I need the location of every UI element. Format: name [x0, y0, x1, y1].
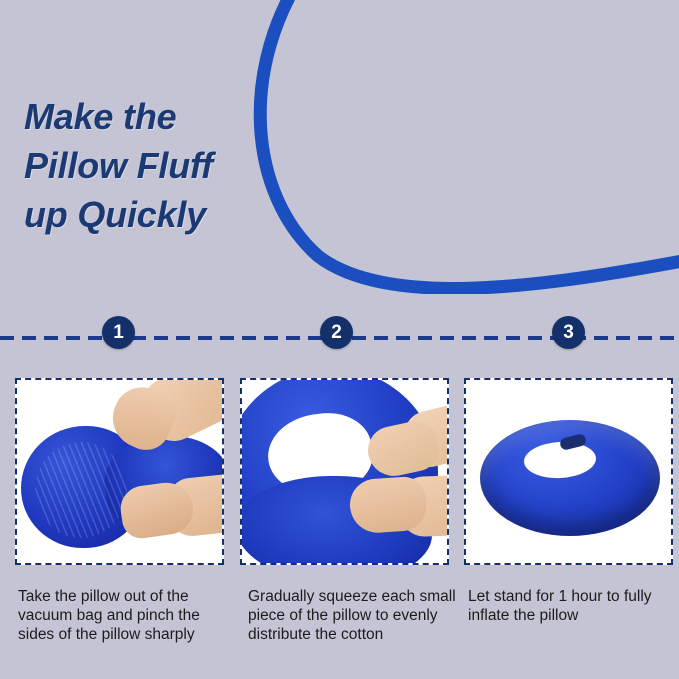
step-photo-2 [242, 380, 447, 563]
hero-image-container [248, 0, 679, 294]
step-caption-2: Gradually squeeze each small piece of th… [248, 587, 456, 644]
step-badge-1: 1 [102, 316, 135, 349]
chair-screw-icon [501, 230, 508, 237]
headline-line-3: up Quickly [24, 190, 256, 239]
step-photo-panel-3 [464, 378, 673, 565]
product-instruction-infographic: Make the Pillow Fluff up Quickly 1 2 3 [0, 0, 679, 679]
headline-line-1: Make the [24, 92, 256, 141]
step-photo-panel-1 [15, 378, 224, 565]
step-photo-1 [17, 380, 222, 563]
step-photo-panel-2 [240, 378, 449, 565]
chair-rail-lower [320, 277, 475, 292]
step-timeline: 1 2 3 [0, 330, 679, 346]
step-photo-3 [466, 380, 671, 563]
hand-lower [348, 475, 428, 534]
hero-photo [248, 0, 679, 294]
chair-screw-icon [468, 190, 475, 197]
step-badge-3: 3 [552, 316, 585, 349]
pillow-texture [35, 442, 127, 538]
step-caption-3: Let stand for 1 hour to fully inflate th… [468, 587, 676, 625]
page-title: Make the Pillow Fluff up Quickly [24, 92, 256, 239]
chair-rail-upper [318, 245, 478, 261]
step-caption-1: Take the pillow out of the vacuum bag an… [18, 587, 230, 644]
headline-line-2: Pillow Fluff [24, 141, 256, 190]
hero-photo-clip [248, 0, 679, 294]
step-badge-2: 2 [320, 316, 353, 349]
chair-screw-icon [300, 28, 307, 35]
